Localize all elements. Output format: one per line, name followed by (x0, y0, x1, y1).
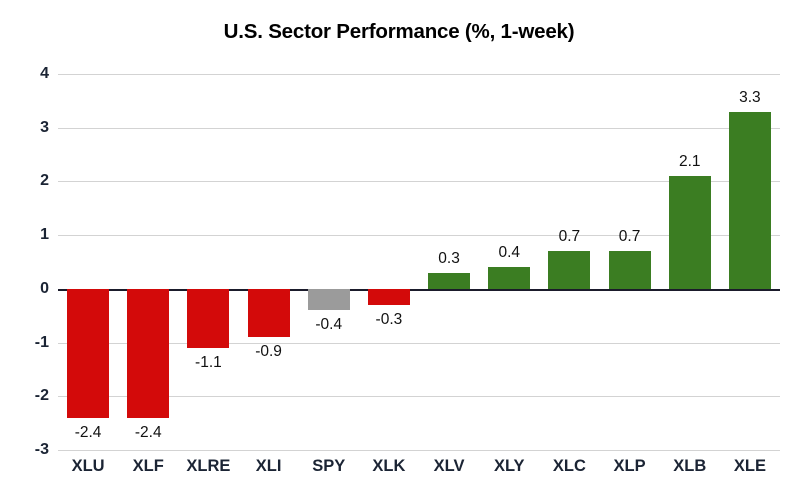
bar-value-label-xlp: 0.7 (619, 229, 641, 245)
bar-value-label-xlv: 0.3 (438, 251, 460, 267)
bar-value-label-xlu: -2.4 (75, 425, 102, 441)
bar-value-label-xle: 3.3 (739, 90, 761, 106)
bar-xlre[interactable] (187, 289, 229, 348)
x-tick-label-xli: XLI (256, 458, 282, 475)
x-tick-label-xlf: XLF (133, 458, 164, 475)
bar-xle[interactable] (729, 112, 771, 289)
y-tick-label: 0 (40, 281, 49, 297)
bar-group-xlp: 0.7XLP (600, 74, 660, 450)
bar-group-xlb: 2.1XLB (660, 74, 720, 450)
bar-group-xlv: 0.3XLV (419, 74, 479, 450)
sector-performance-bar-chart: U.S. Sector Performance (%, 1-week) 4321… (0, 0, 798, 499)
x-tick-label-xlv: XLV (434, 458, 465, 475)
bar-xlf[interactable] (127, 289, 169, 418)
bar-value-label-xli: -0.9 (255, 344, 282, 360)
bar-group-xlc: 0.7XLC (539, 74, 599, 450)
x-tick-label-spy: SPY (312, 458, 345, 475)
y-tick-label: -3 (35, 442, 49, 458)
y-tick-label: 4 (40, 66, 49, 82)
gridline--3 (58, 450, 780, 451)
bar-group-xle: 3.3XLE (720, 74, 780, 450)
bar-xlp[interactable] (609, 251, 651, 289)
bar-series: -2.4XLU-2.4XLF-1.1XLRE-0.9XLI-0.4SPY-0.3… (58, 74, 780, 450)
bar-group-xlu: -2.4XLU (58, 74, 118, 450)
bar-group-xli: -0.9XLI (239, 74, 299, 450)
bar-group-xly: 0.4XLY (479, 74, 539, 450)
bar-group-spy: -0.4SPY (299, 74, 359, 450)
bar-value-label-xlb: 2.1 (679, 154, 701, 170)
y-tick-label: 2 (40, 173, 49, 189)
bar-value-label-xlre: -1.1 (195, 355, 222, 371)
bar-xlc[interactable] (548, 251, 590, 289)
x-tick-label-xlk: XLK (372, 458, 405, 475)
plot-area: 43210-1-2-3 -2.4XLU-2.4XLF-1.1XLRE-0.9XL… (58, 74, 780, 450)
bar-group-xlf: -2.4XLF (118, 74, 178, 450)
bar-xlb[interactable] (669, 176, 711, 289)
y-tick-label: -1 (35, 335, 49, 351)
y-tick-label: 1 (40, 227, 49, 243)
bar-value-label-xly: 0.4 (498, 245, 520, 261)
bar-spy[interactable] (308, 289, 350, 310)
bar-value-label-xlk: -0.3 (376, 312, 403, 328)
x-tick-label-xlu: XLU (72, 458, 105, 475)
y-tick-label: 3 (40, 120, 49, 136)
bar-value-label-xlf: -2.4 (135, 425, 162, 441)
bar-value-label-xlc: 0.7 (559, 229, 581, 245)
x-tick-label-xlb: XLB (673, 458, 706, 475)
bar-xlk[interactable] (368, 289, 410, 305)
x-tick-label-xlc: XLC (553, 458, 586, 475)
x-tick-label-xle: XLE (734, 458, 766, 475)
bar-xlv[interactable] (428, 273, 470, 289)
bar-group-xlk: -0.3XLK (359, 74, 419, 450)
chart-title: U.S. Sector Performance (%, 1-week) (0, 20, 798, 44)
bar-xli[interactable] (248, 289, 290, 337)
bar-xly[interactable] (488, 267, 530, 288)
bar-xlu[interactable] (67, 289, 109, 418)
bar-group-xlre: -1.1XLRE (178, 74, 238, 450)
y-tick-label: -2 (35, 388, 49, 404)
bar-value-label-spy: -0.4 (315, 317, 342, 333)
x-tick-label-xly: XLY (494, 458, 525, 475)
x-tick-label-xlre: XLRE (186, 458, 230, 475)
x-tick-label-xlp: XLP (614, 458, 646, 475)
